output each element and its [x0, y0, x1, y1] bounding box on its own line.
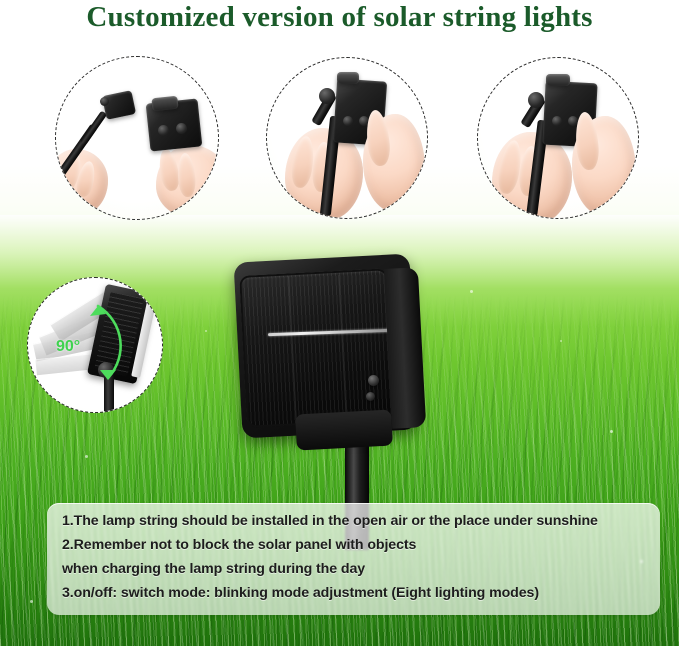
side-switch-knob	[366, 392, 375, 401]
grass-sparkle	[205, 330, 207, 332]
button-knob	[343, 116, 353, 126]
rotation-arrow-icon	[28, 278, 162, 412]
instruction-line-1: 1.The lamp string should be installed in…	[62, 513, 650, 529]
infographic-canvas: Customized version of solar string light…	[0, 0, 679, 646]
instruction-line-2-continued: when charging the lamp string during the…	[62, 561, 650, 577]
pivot-knob	[100, 97, 109, 106]
panel-clip	[546, 74, 570, 86]
page-title: Customized version of solar string light…	[0, 1, 679, 34]
panel-clip	[337, 72, 359, 84]
grass-sparkle	[610, 430, 613, 433]
instruction-line-2: 2.Remember not to block the solar panel …	[62, 537, 650, 553]
grass-sparkle	[30, 600, 33, 603]
grass-sparkle	[85, 455, 88, 458]
instruction-line-3: 3.on/off: switch mode: blinking mode adj…	[62, 585, 650, 601]
instructions-panel: 1.The lamp string should be installed in…	[47, 503, 660, 615]
grass-sparkle	[560, 340, 562, 342]
ground-stake-rod	[80, 110, 108, 145]
panel-clip	[151, 96, 178, 112]
button-knob	[552, 116, 562, 126]
angle-label: 90°	[56, 338, 80, 356]
solar-panel-face	[239, 268, 395, 428]
panel-mount-bracket	[295, 410, 393, 451]
button-knob	[176, 123, 187, 134]
button-knob	[158, 125, 169, 136]
pivot-knob	[528, 92, 544, 108]
grass-sparkle	[470, 290, 473, 293]
step-3-illustration	[478, 58, 638, 218]
step-1-circle	[55, 56, 219, 220]
step-3-circle	[477, 57, 639, 219]
step-1-illustration	[56, 57, 218, 219]
step-2-illustration	[267, 58, 427, 218]
step-2-circle	[266, 57, 428, 219]
pivot-knob	[319, 88, 335, 104]
side-switch-knob	[368, 375, 379, 386]
tilt-angle-circle: 90°	[27, 277, 163, 413]
